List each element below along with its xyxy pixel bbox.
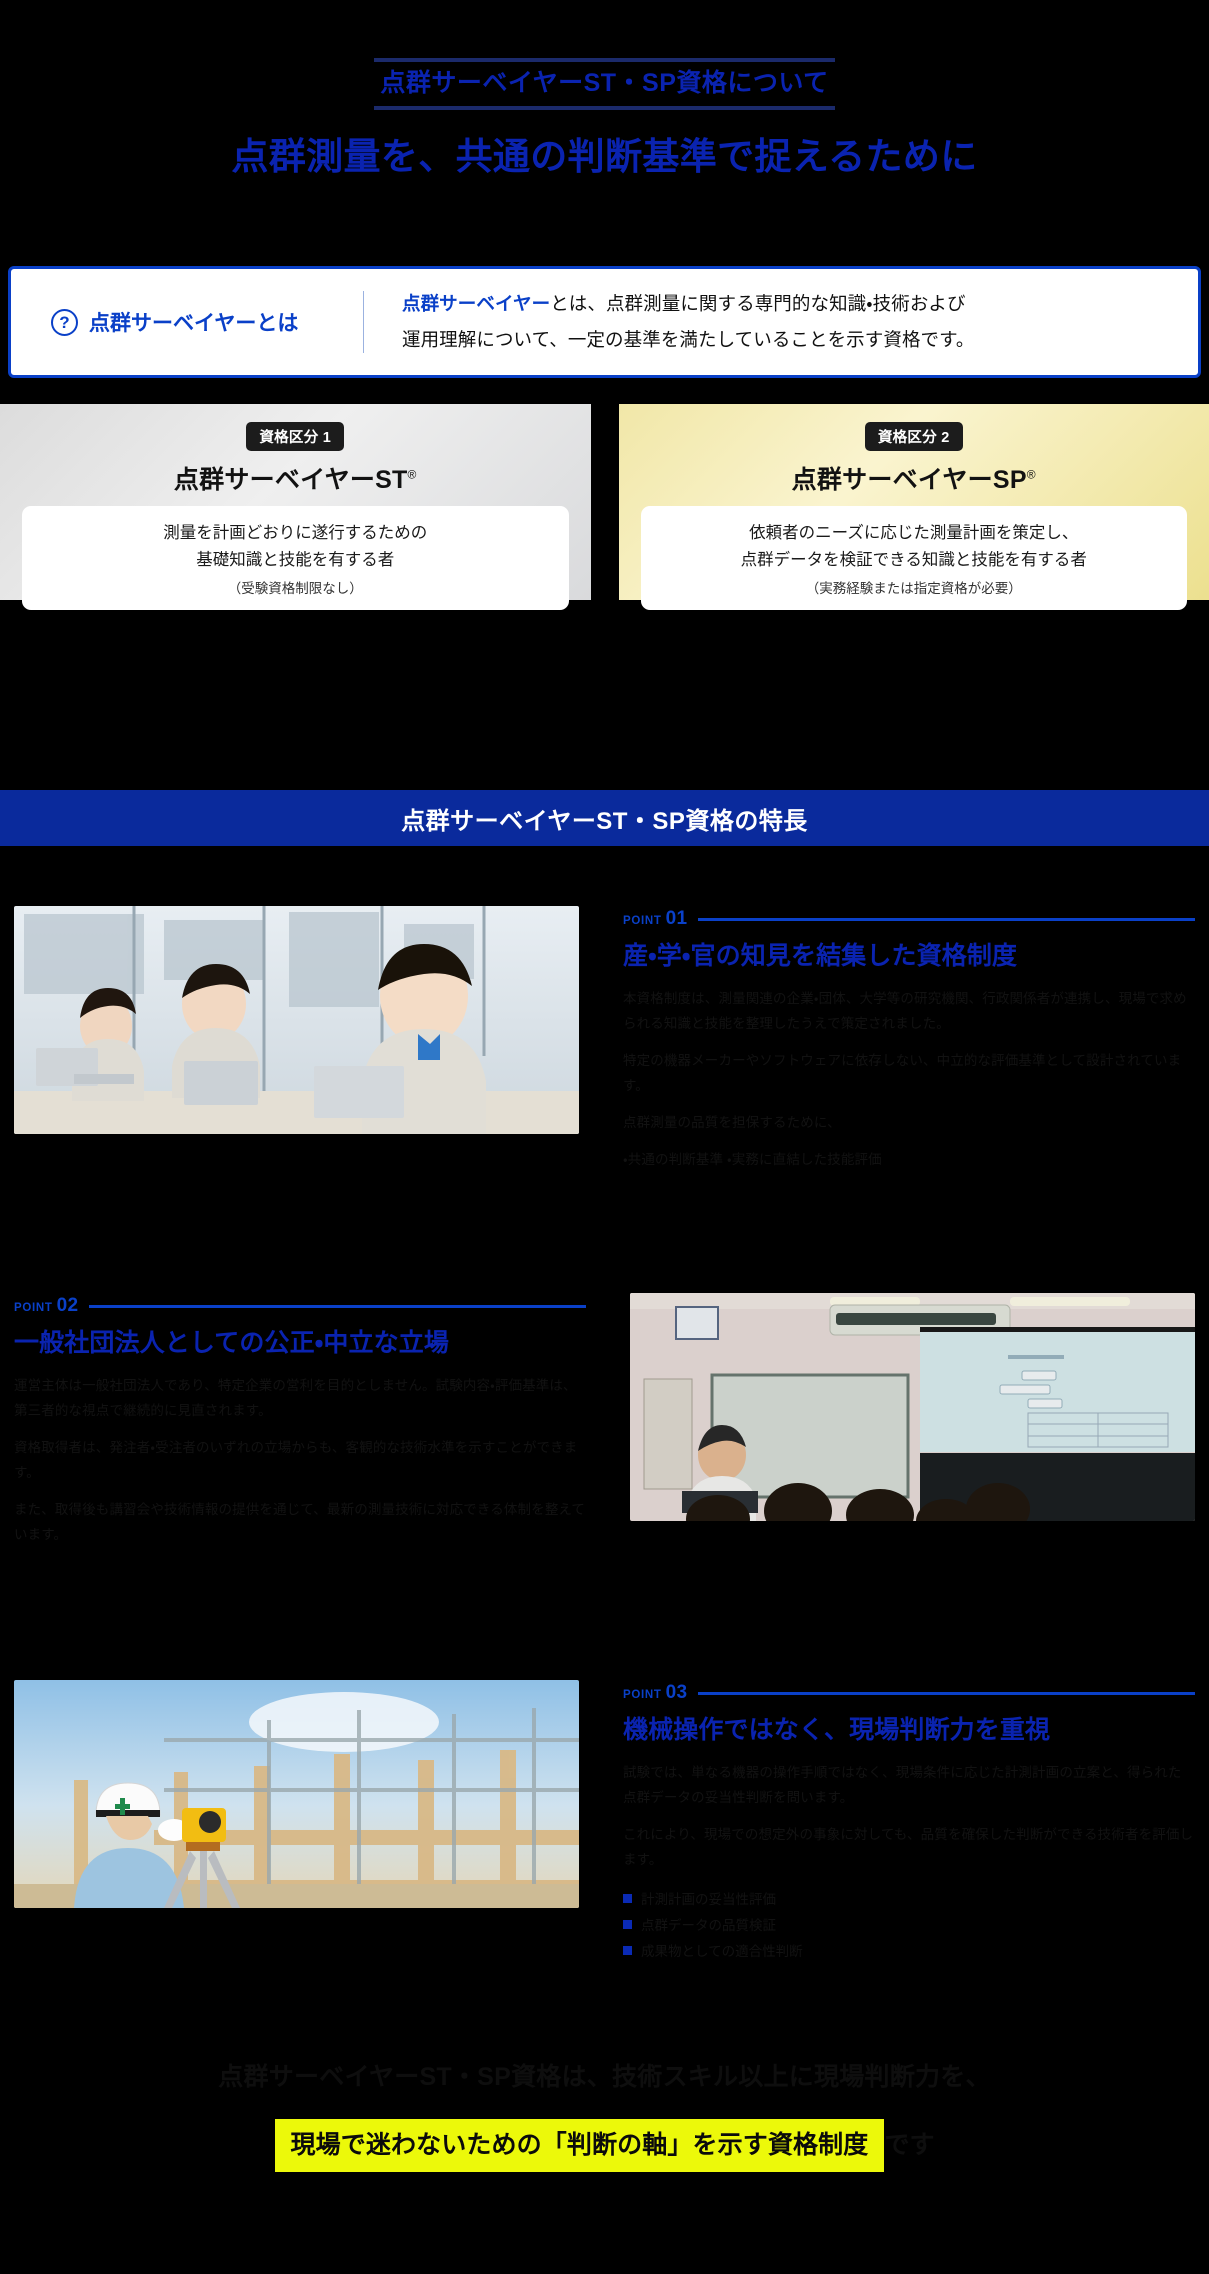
point-tag-03: POINT 03 <box>623 1682 688 1704</box>
registered-mark: ® <box>408 468 417 482</box>
photo-seminar-lecture <box>630 1293 1195 1521</box>
point-title-02: 一般社団法人としての公正・中立な立場 <box>14 1327 586 1361</box>
point-bullet-list-03: 計測計画の妥当性評価 点群データの品質検証 成果物としての適合性判断 <box>623 1887 1195 1966</box>
card-badge: 資格区分 2 <box>865 422 963 451</box>
hero-eyebrow: 点群サーベイヤーST・SP資格について <box>374 67 834 100</box>
card-description: 依頼者のニーズに応じた測量計画を策定し、 点群データを検証できる知識と技能を有す… <box>641 506 1188 610</box>
definition-line-2: 運用理解について、一定の基準を満たしていることを示す資格です。 <box>402 322 975 358</box>
point-paragraph: また、取得後も講習会や技術情報の提供を通じて、最新の測量技術に対応できる体制を整… <box>14 1498 586 1548</box>
point-rule <box>89 1305 587 1308</box>
point-header-03: POINT 03 <box>623 1682 1195 1704</box>
definition-rest-1: とは、点群測量に関する専門的な知識・技術および <box>550 293 965 314</box>
definition-highlight: 点群サーベイヤー <box>402 293 550 314</box>
section-banner-title: 点群サーベイヤーST・SP資格の特長 <box>401 801 808 836</box>
definition-line-1: 点群サーベイヤーとは、点群測量に関する専門的な知識・技術および <box>402 286 975 322</box>
card-badge: 資格区分 1 <box>246 422 344 451</box>
photo-surveyor-field <box>14 1680 579 1908</box>
point-paragraph: 資格取得者は、発注者・受注者のいずれの立場からも、客観的な技術水準を示すことがで… <box>14 1436 586 1486</box>
hero-section: 点群サーベイヤーST・SP資格について 点群測量を、共通の判断基準で捉えるために <box>0 0 1209 181</box>
point-body-01: 本資格制度は、測量関連の企業・団体、大学等の研究機関、行政関係者が連携し、現場で… <box>623 987 1195 1173</box>
point-tag-word: POINT <box>623 1689 662 1701</box>
definition-label: 点群サーベイヤーとは <box>89 307 298 337</box>
closing-highlight: 現場で迷わないための「判断の軸」を示す資格制度 <box>275 2119 885 2172</box>
square-bullet-icon <box>623 1894 632 1903</box>
card-description: 測量を計画どおりに遂行するための 基礎知識と技能を有する者 （受験資格制限なし） <box>22 506 569 610</box>
page-root: 点群サーベイヤーST・SP資格について 点群測量を、共通の判断基準で捉えるために… <box>0 0 1209 2274</box>
point-body-02: 運営主体は一般社団法人であり、特定企業の営利を目的としません。試験内容・評価基準… <box>14 1374 586 1548</box>
closing-highlight-row: 現場で迷わないための「判断の軸」を示す資格制度です <box>0 2119 1209 2172</box>
point-text-01: POINT 01 産・学・官の知見を結集した資格制度 本資格制度は、測量関連の企… <box>623 906 1195 1173</box>
card-desc-line-1: 依頼者のニーズに応じた測量計画を策定し、 <box>749 524 1078 542</box>
list-item: 成果物としての適合性判断 <box>623 1939 1195 1965</box>
qualification-cards: 資格区分 1 点群サーベイヤーST® 測量を計画どおりに遂行するための 基礎知識… <box>0 404 1209 600</box>
list-item: 計測計画の妥当性評価 <box>623 1887 1195 1913</box>
point-rule <box>698 1692 1196 1695</box>
point-body-03: 試験では、単なる機器の操作手順ではなく、現場条件に応じた計測計画の立案と、得られ… <box>623 1761 1195 1873</box>
point-paragraph: これにより、現場での想定外の事象に対しても、品質を確保した判断ができる技術者を評… <box>623 1823 1195 1873</box>
point-title-03: 機械操作ではなく、現場判断力を重視 <box>623 1714 1195 1748</box>
photo-office-training <box>14 906 579 1134</box>
point-rule <box>698 918 1196 921</box>
point-paragraph: 試験では、単なる機器の操作手順ではなく、現場条件に応じた計測計画の立案と、得られ… <box>623 1761 1195 1811</box>
point-tag-01: POINT 01 <box>623 908 688 930</box>
point-tag-word: POINT <box>623 915 662 927</box>
closing-section: 点群サーベイヤーST・SP資格は、技術スキル以上に現場判断力を、 現場で迷わない… <box>0 2060 1209 2172</box>
definition-body: 点群サーベイヤーとは、点群測量に関する専門的な知識・技術および 運用理解について… <box>364 286 1005 358</box>
point-tag-number: 02 <box>57 1295 79 1317</box>
card-desc-line-2: 点群データを検証できる知識と技能を有する者 <box>741 551 1087 569</box>
point-header-01: POINT 01 <box>623 908 1195 930</box>
point-tag-word: POINT <box>14 1302 53 1314</box>
point-block-02: POINT 02 一般社団法人としての公正・中立な立場 運営主体は一般社団法人で… <box>0 1293 1209 1548</box>
question-circle-icon: ? <box>51 309 78 336</box>
qualification-card-st: 資格区分 1 点群サーベイヤーST® 測量を計画どおりに遂行するための 基礎知識… <box>0 404 591 600</box>
section-banner: 点群サーベイヤーST・SP資格の特長 <box>0 790 1209 846</box>
card-note: （受験資格制限なし） <box>32 577 559 597</box>
point-paragraph: 本資格制度は、測量関連の企業・団体、大学等の研究機関、行政関係者が連携し、現場で… <box>623 987 1195 1037</box>
point-header-02: POINT 02 <box>14 1295 586 1317</box>
card-title-text: 点群サーベイヤーST <box>174 466 408 494</box>
card-note: （実務経験または指定資格が必要） <box>651 577 1178 597</box>
point-paragraph: 特定の機器メーカーやソフトウェアに依存しない、中立的な評価基準として設計されてい… <box>623 1049 1195 1099</box>
list-item-label: 成果物としての適合性判断 <box>641 1939 803 1965</box>
registered-mark: ® <box>1027 468 1036 482</box>
definition-label-group: ? 点群サーベイヤーとは <box>11 307 363 337</box>
square-bullet-icon <box>623 1946 632 1955</box>
qualification-card-sp: 資格区分 2 点群サーベイヤーSP® 依頼者のニーズに応じた測量計画を策定し、 … <box>619 404 1209 600</box>
point-text-02: POINT 02 一般社団法人としての公正・中立な立場 運営主体は一般社団法人で… <box>14 1293 586 1548</box>
closing-tail: です <box>884 2131 934 2159</box>
point-block-03: POINT 03 機械操作ではなく、現場判断力を重視 試験では、単なる機器の操作… <box>0 1680 1209 1966</box>
point-paragraph: 点群測量の品質を担保するために、 <box>623 1111 1195 1136</box>
page-title: 点群測量を、共通の判断基準で捉えるために <box>0 132 1209 182</box>
card-title-text: 点群サーベイヤーSP <box>792 466 1027 494</box>
point-tag-number: 03 <box>666 1682 688 1704</box>
point-paragraph: ・共通の判断基準 ・実務に直結した技能評価 <box>623 1148 1195 1173</box>
card-desc-line-2: 基礎知識と技能を有する者 <box>196 551 394 569</box>
point-title-01: 産・学・官の知見を結集した資格制度 <box>623 940 1195 974</box>
closing-lead: 点群サーベイヤーST・SP資格は、技術スキル以上に現場判断力を、 <box>0 2060 1209 2095</box>
card-desc-line-1: 測量を計画どおりに遂行するための <box>163 524 427 542</box>
card-title: 点群サーベイヤーSP® <box>641 460 1188 496</box>
card-title: 点群サーベイヤーST® <box>22 460 569 496</box>
point-tag-02: POINT 02 <box>14 1295 79 1317</box>
list-item-label: 点群データの品質検証 <box>641 1913 776 1939</box>
hero-eyebrow-frame: 点群サーベイヤーST・SP資格について <box>374 58 834 110</box>
list-item: 点群データの品質検証 <box>623 1913 1195 1939</box>
point-tag-number: 01 <box>666 908 688 930</box>
square-bullet-icon <box>623 1920 632 1929</box>
point-text-03: POINT 03 機械操作ではなく、現場判断力を重視 試験では、単なる機器の操作… <box>623 1680 1195 1966</box>
list-item-label: 計測計画の妥当性評価 <box>641 1887 776 1913</box>
definition-box: ? 点群サーベイヤーとは 点群サーベイヤーとは、点群測量に関する専門的な知識・技… <box>8 266 1201 378</box>
point-block-01: POINT 01 産・学・官の知見を結集した資格制度 本資格制度は、測量関連の企… <box>0 906 1209 1173</box>
point-paragraph: 運営主体は一般社団法人であり、特定企業の営利を目的としません。試験内容・評価基準… <box>14 1374 586 1424</box>
